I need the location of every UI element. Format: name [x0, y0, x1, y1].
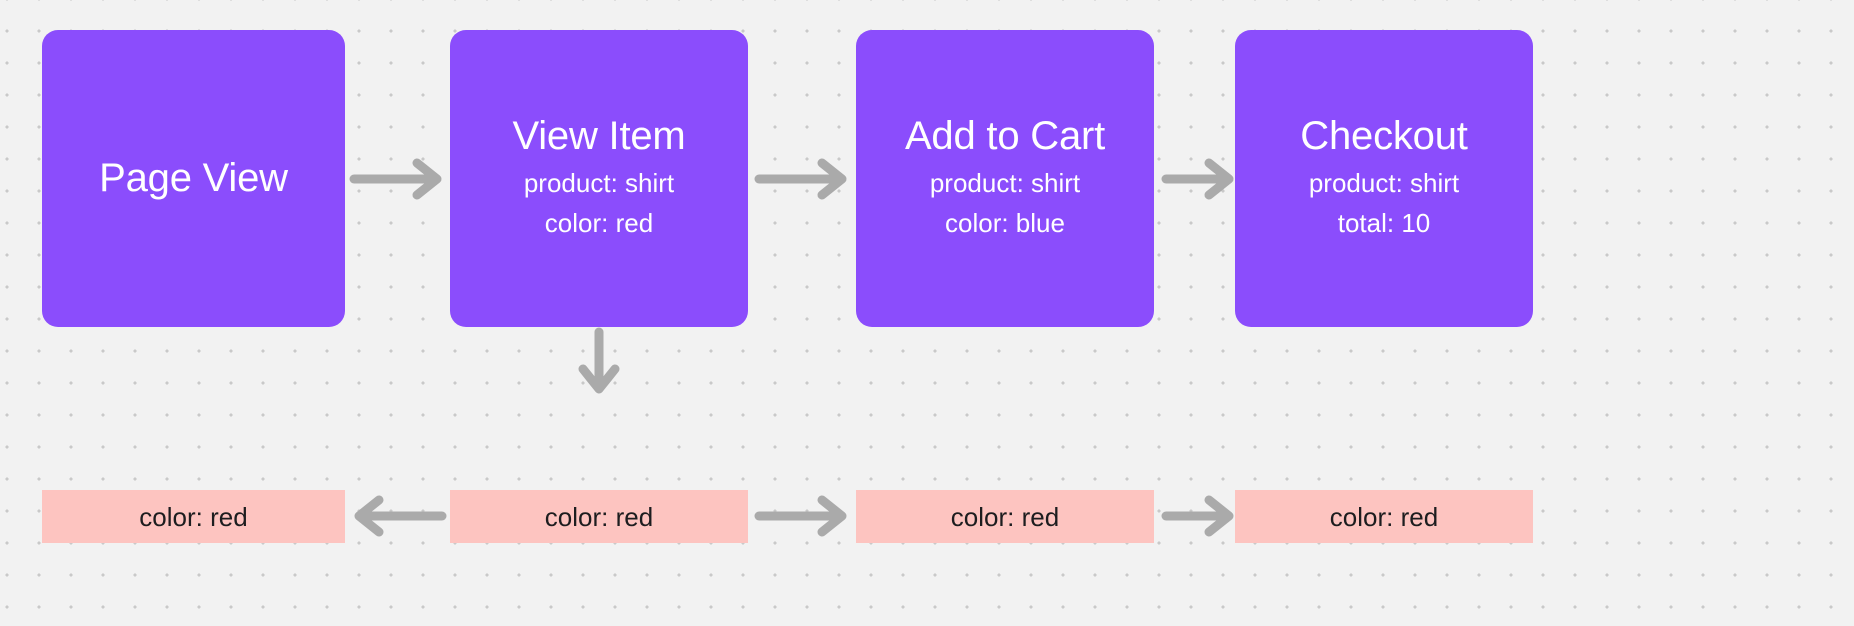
event-node-property: color: blue: [945, 203, 1065, 243]
event-node-property: total: 10: [1338, 203, 1431, 243]
event-node-properties: product: shirt color: red: [524, 163, 674, 244]
event-node-checkout[interactable]: Checkout product: shirt total: 10: [1235, 30, 1533, 327]
property-node-3[interactable]: color: red: [856, 490, 1154, 543]
property-node-label: color: red: [139, 504, 247, 530]
property-node-label: color: red: [545, 504, 653, 530]
event-node-property: color: red: [545, 203, 653, 243]
event-node-property: product: shirt: [524, 163, 674, 203]
event-node-view-item[interactable]: View Item product: shirt color: red: [450, 30, 748, 327]
arrow-view-item-to-add-to-cart: [757, 158, 849, 200]
event-node-properties: product: shirt color: blue: [930, 163, 1080, 244]
event-node-title: Add to Cart: [905, 114, 1105, 159]
arrow-view-item-to-property-node-2: [578, 330, 620, 396]
event-node-title: Checkout: [1300, 114, 1467, 159]
property-node-2[interactable]: color: red: [450, 490, 748, 543]
property-node-label: color: red: [951, 504, 1059, 530]
arrow-property-node-2-to-property-node-1: [352, 495, 444, 537]
event-node-add-to-cart[interactable]: Add to Cart product: shirt color: blue: [856, 30, 1154, 327]
event-node-property: product: shirt: [1309, 163, 1459, 203]
event-node-title: View Item: [512, 114, 685, 159]
event-node-page-view[interactable]: Page View: [42, 30, 345, 327]
event-node-properties: product: shirt total: 10: [1309, 163, 1459, 244]
flow-canvas[interactable]: Page View View Item product: shirt color…: [0, 0, 1854, 626]
arrow-property-node-2-to-property-node-3: [757, 495, 849, 537]
property-node-label: color: red: [1330, 504, 1438, 530]
arrow-page-view-to-view-item: [352, 158, 444, 200]
property-node-4[interactable]: color: red: [1235, 490, 1533, 543]
arrow-add-to-cart-to-checkout: [1164, 158, 1236, 200]
event-node-property: product: shirt: [930, 163, 1080, 203]
arrow-property-node-3-to-property-node-4: [1164, 495, 1236, 537]
property-node-1[interactable]: color: red: [42, 490, 345, 543]
event-node-title: Page View: [99, 156, 288, 201]
